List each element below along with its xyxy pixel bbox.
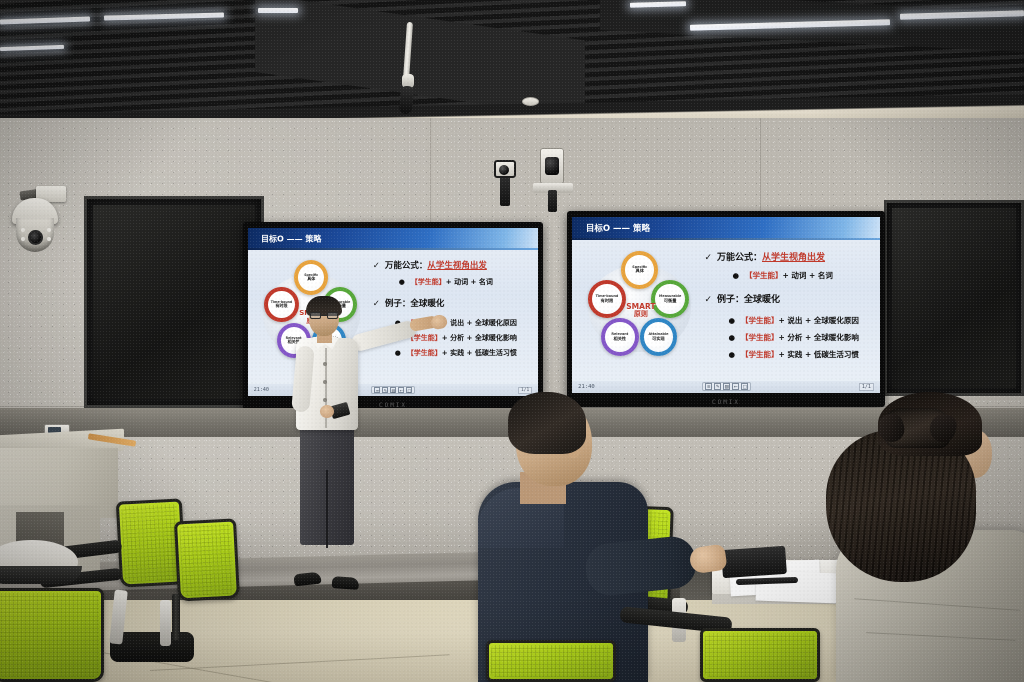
slide-line-subject: 【学生能】 [407, 349, 442, 357]
bullet-icon: ● [728, 316, 735, 325]
slide-header: 目标O —— 策略 [572, 217, 880, 240]
camera-mount [548, 190, 557, 212]
slide-line: ● 【学生能】+ 动词 + 名词 [399, 277, 533, 287]
slide-line-text: 万能公式： [385, 261, 428, 271]
smart-diagram: Specific 具体 Measurable 可衡量 Attainable 可实… [581, 248, 698, 366]
slide-line-rest: + 动词 + 名词 [782, 271, 832, 280]
slide-footer: 21:40 ≡ ✎ ▨ ← □ 1/1 [572, 381, 880, 393]
ceiling-sensor-icon [522, 97, 539, 106]
slide-line: ✓ 万能公式：从学生视角出发 [704, 250, 873, 263]
slide-line-text: 万能公式： [717, 253, 762, 263]
smart-center-line2: 原则 [634, 311, 648, 319]
paper-sheet [756, 571, 841, 604]
chair-gas-lift [172, 594, 180, 640]
slide-line: ● 【学生能】+ 分析 + 全球暖化影响 [728, 332, 873, 343]
desk-device[interactable] [721, 546, 787, 578]
slide-line-rest: + 实践 + 低碳生活习惯 [778, 350, 858, 359]
left-display-screen[interactable]: 目标O —— 策略 Specific 具体 Measurable 可衡量 Att… [248, 228, 538, 396]
slide-toolbar[interactable]: ≡ ✎ ▨ ← □ [371, 386, 415, 394]
slide-line: ✓ 例子：全球暖化 [704, 292, 873, 305]
slide-pager: 1/1 [859, 383, 874, 391]
tracking-camera-icon [540, 148, 564, 184]
slide-line: ● 【学生能】+ 实践 + 低碳生活习惯 [395, 348, 533, 358]
prev-icon[interactable]: ← [398, 387, 404, 393]
check-icon: ✓ [704, 253, 712, 263]
slide-line-rest: + 分析 + 全球暖化影响 [442, 334, 517, 342]
slide-line-highlight: 从学生视角出发 [427, 261, 487, 271]
slide-line-subject: 【学生能】 [745, 271, 783, 280]
slide-body: Specific 具体 Measurable 可衡量 Attainable 可实… [572, 240, 880, 381]
slide-line-subject: 【学生能】 [741, 350, 779, 359]
slide-line-text: 例子：全球暖化 [385, 297, 445, 309]
chair-back[interactable] [174, 518, 240, 601]
slide-clock: 21:40 [578, 384, 595, 390]
bullet-icon: ● [728, 333, 735, 342]
ceiling-light [0, 16, 90, 24]
slide-body: Specific 具体 Measurable 可衡量 Attainable 可实… [248, 250, 538, 384]
eraser-icon[interactable]: ▨ [723, 383, 730, 390]
ceiling [0, 0, 1024, 122]
slide-line-subject: 【学生能】 [741, 316, 779, 325]
blackboard-frame [84, 196, 264, 408]
smart-ring-label-cn: 可实现 [652, 337, 665, 341]
check-icon: ✓ [373, 299, 380, 309]
right-interactive-display[interactable]: 目标O —— 策略 Specific 具体 Measurable 可衡量 Att… [567, 211, 885, 407]
hair-bow-icon [884, 408, 950, 448]
slide-line: ● 【学生能】+ 分析 + 全球暖化影响 [395, 333, 533, 343]
attendee-man-hair [508, 392, 586, 454]
smart-ring-specific: Specific 具体 [621, 251, 658, 289]
smart-ring-label-cn: 有时限 [601, 299, 614, 303]
presenter-leg-seam [326, 470, 328, 548]
smart-ring-label-cn: 具体 [636, 269, 644, 273]
camera-lens-icon [28, 230, 43, 245]
stop-icon[interactable]: □ [741, 383, 748, 390]
right-display-screen[interactable]: 目标O —— 策略 Specific 具体 Measurable 可衡量 Att… [572, 217, 880, 393]
chair-back[interactable] [0, 588, 104, 682]
eraser-icon[interactable]: ▨ [390, 387, 396, 393]
prev-icon[interactable]: ← [732, 383, 739, 390]
presenter-shoe-right [332, 576, 360, 590]
slide-line-rest: + 分析 + 全球暖化影响 [778, 333, 858, 342]
presenter-left-hand [320, 405, 334, 418]
classroom-scene: 目标O —— 策略 Specific 具体 Measurable 可衡量 Att… [0, 0, 1024, 682]
blackboard-frame-right [884, 200, 1024, 396]
smart-ring-label-cn: 有时限 [275, 304, 287, 308]
slide-text-column: ✓ 万能公式：从学生视角出发 ● 【学生能】+ 动词 + 名词 ✓ 例子：全球暖… [373, 253, 533, 382]
slide-line-subject: 【学生能】 [741, 333, 779, 342]
slide-footer: 21:40 ≡ ✎ ▨ ← □ 1/1 [248, 384, 538, 396]
action-camera-icon [494, 160, 516, 178]
desk-edge [0, 566, 82, 584]
slide-line-rest: + 实践 + 低碳生活习惯 [442, 349, 517, 357]
slide-line-rest: + 动词 + 名词 [446, 278, 493, 286]
ceiling-light [258, 8, 298, 13]
slide-line-rest: + 说出 + 全球暖化原因 [442, 319, 517, 327]
slide-line-subject: 【学生能】 [411, 278, 446, 286]
pen-icon[interactable]: ✎ [714, 383, 721, 390]
slide-line-rest: + 说出 + 全球暖化原因 [778, 316, 858, 325]
slide-header: 目标O —— 策略 [248, 228, 538, 250]
bullet-icon: ● [395, 349, 401, 357]
slide-line-highlight: 从学生视角出发 [762, 253, 825, 263]
slide-pager: 1/1 [518, 387, 532, 394]
blackboard-panel [93, 205, 255, 399]
check-icon: ✓ [373, 261, 380, 271]
slide-header-title: 目标O —— 策略 [586, 222, 650, 234]
ceiling-light [104, 12, 224, 20]
chair-back[interactable] [486, 640, 616, 682]
check-icon: ✓ [704, 295, 712, 305]
display-brand-label: COMIX [712, 399, 740, 406]
slide-header-title: 目标O —— 策略 [261, 233, 321, 244]
smart-ring-label-cn: 可衡量 [664, 299, 677, 303]
slide-toolbar[interactable]: ≡ ✎ ▨ ← □ [702, 382, 751, 391]
bullet-icon: ● [732, 271, 739, 280]
blackboard-panel [892, 208, 1016, 388]
slide-line: ✓ 例子：全球暖化 [373, 297, 533, 309]
slide-line-text: 例子：全球暖化 [717, 292, 780, 305]
pen-icon[interactable]: ✎ [382, 387, 388, 393]
menu-icon[interactable]: ≡ [705, 383, 712, 390]
slide-clock: 21:40 [254, 387, 269, 393]
chair-back[interactable] [700, 628, 820, 682]
slide-line: ✓ 万能公式：从学生视角出发 [373, 259, 533, 271]
smart-ring-label-cn: 相关性 [614, 337, 627, 341]
smart-ring-label-cn: 具体 [307, 277, 315, 281]
menu-icon[interactable]: ≡ [374, 387, 380, 393]
slide-line: ● 【学生能】+ 说出 + 全球暖化原因 [728, 315, 873, 326]
camera-mount [500, 176, 510, 206]
smart-center-label: SMART 原则 [621, 296, 661, 327]
chair-arm-post [160, 600, 171, 646]
bullet-icon: ● [728, 350, 735, 359]
slide-line: ● 【学生能】+ 动词 + 名词 [732, 270, 873, 281]
left-interactive-display[interactable]: 目标O —— 策略 Specific 具体 Measurable 可衡量 Att… [243, 222, 543, 410]
bullet-icon: ● [399, 278, 405, 286]
slide-text-column: ✓ 万能公式：从学生视角出发 ● 【学生能】+ 动词 + 名词 ✓ 例子：全球暖… [704, 243, 873, 378]
slide-line: ● 【学生能】+ 实践 + 低碳生活习惯 [728, 349, 873, 360]
glasses-icon [310, 312, 338, 319]
ceiling-light [0, 45, 64, 51]
stop-icon[interactable]: □ [406, 387, 412, 393]
